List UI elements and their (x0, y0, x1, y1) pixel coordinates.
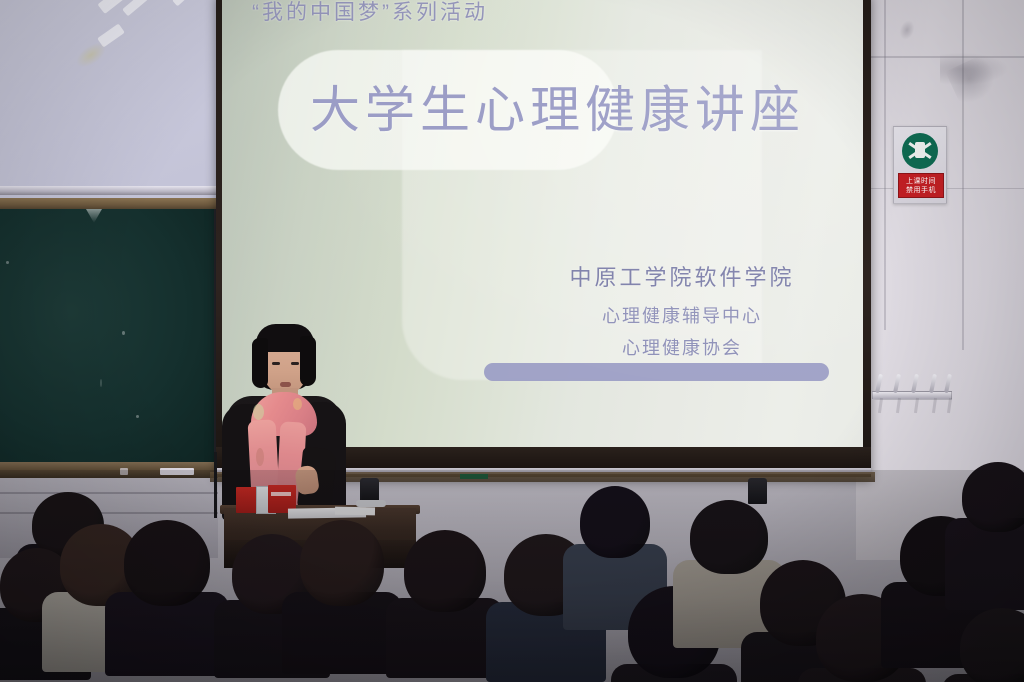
presenter-mouth (280, 382, 291, 387)
audience-head (962, 462, 1024, 532)
chalk-speck (100, 379, 102, 387)
slide-org-line-2: 心理健康辅导中心 (522, 302, 842, 328)
slide-accent-bar (484, 363, 829, 381)
phone-prohibition-icon (902, 133, 938, 169)
no-mobile-phones-sign: 上课时间 禁用手机 (893, 126, 947, 204)
slide-org-line-1: 中原工学院软件学院 (522, 260, 842, 292)
ledge-label (460, 474, 488, 479)
chalkboard (0, 209, 217, 466)
whiteboard-panel (0, 0, 221, 200)
audience-torso (945, 518, 1024, 610)
red-box (236, 487, 258, 513)
lecture-hall-photo: “我的中国梦”系列活动 大学生心理健康讲座 中原工学院软件学院 心理健康辅导中心… (0, 0, 1024, 682)
wall-speaker-right (748, 478, 767, 504)
audience-head (300, 520, 384, 606)
sign-banner-line-1: 上课时间 (906, 177, 936, 186)
chalk-speck (6, 261, 9, 264)
slide-header-text: “我的中国梦”系列活动 (252, 0, 672, 26)
scarf-pattern (293, 398, 302, 410)
scarf-pattern (253, 404, 264, 420)
mic-stand-pole (214, 452, 217, 518)
scarf-pattern (256, 448, 264, 466)
presenter-hair-side (300, 336, 316, 386)
whiteboard-lip (0, 186, 218, 195)
papers (335, 507, 375, 516)
sign-banner: 上课时间 禁用手机 (898, 173, 944, 198)
chalk-speck (136, 415, 139, 418)
presenter-eye (291, 362, 299, 365)
chalk-smudge (86, 209, 102, 223)
audience-head (404, 530, 486, 612)
presenter-hair-side (252, 338, 268, 388)
microphone-base (356, 500, 386, 507)
audience-head (124, 520, 210, 606)
slide-org-line-3: 心理健康协会 (522, 334, 842, 360)
slide-title: 大学生心理健康讲座 (310, 70, 850, 142)
audience-head (690, 500, 768, 574)
presenter-eye (272, 362, 280, 365)
chalk-stick (120, 468, 128, 475)
wall-seam (884, 0, 886, 330)
audience-head (580, 486, 650, 558)
projection-screen[interactable]: “我的中国梦”系列活动 大学生心理健康讲座 中原工学院软件学院 心理健康辅导中心… (222, 0, 863, 447)
chalk-speck (122, 331, 125, 335)
red-box-label (271, 492, 291, 496)
chalk-tray-eraser (160, 468, 194, 475)
whiteboard-mark (172, 0, 194, 6)
sign-banner-line-2: 禁用手机 (906, 186, 936, 195)
whiteboard-mark (122, 0, 148, 16)
